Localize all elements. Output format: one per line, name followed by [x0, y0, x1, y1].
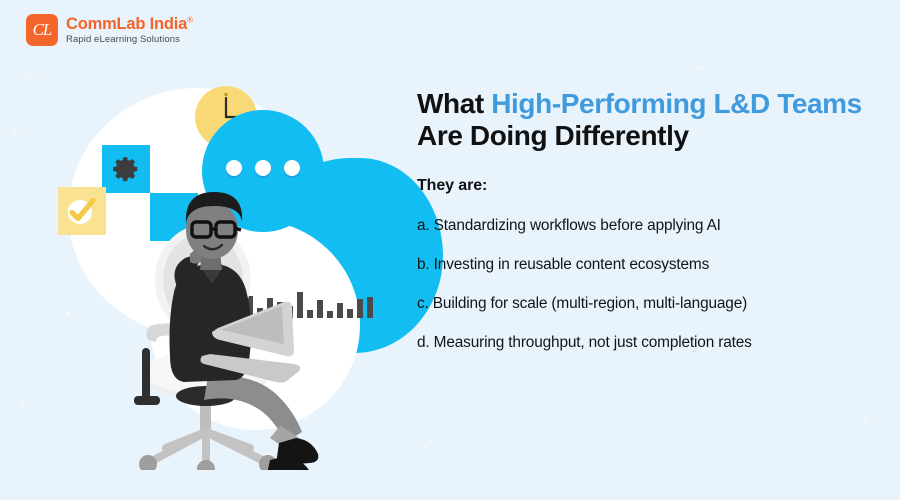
chart-bar [337, 303, 343, 318]
list-item: c. Building for scale (multi-region, mul… [417, 295, 877, 313]
brand-name: CommLab India® [66, 16, 193, 33]
content-column: What High-Performing L&D Teams Are Doing… [417, 88, 877, 373]
bubble-dot [226, 160, 242, 176]
headline-part2: Are Doing Differently [417, 120, 689, 151]
illustration [30, 70, 400, 470]
chart-bar [367, 297, 373, 318]
logo-text-block: CommLab India® Rapid eLearning Solutions [66, 16, 193, 45]
chart-bar [357, 299, 363, 318]
headline-part1: What [417, 88, 491, 119]
bubble-dot [255, 160, 271, 176]
person-photo [90, 180, 335, 470]
list-item: b. Investing in reusable content ecosyst… [417, 256, 877, 274]
slide-canvas: CL CommLab India® Rapid eLearning Soluti… [0, 0, 900, 500]
bubble-dot [284, 160, 300, 176]
brand-tagline: Rapid eLearning Solutions [66, 35, 193, 45]
logo-monogram-icon: CL [26, 14, 58, 46]
headline-accent: High-Performing L&D Teams [491, 88, 862, 119]
page-title: What High-Performing L&D Teams Are Doing… [417, 88, 877, 153]
speech-bubble-dots [202, 160, 324, 176]
brand-name-text: CommLab India [66, 15, 187, 33]
registered-mark-icon: ® [187, 15, 193, 24]
logo-monogram-text: CL [33, 21, 52, 40]
chart-bar [347, 309, 353, 318]
list-item: d. Measuring throughput, not just comple… [417, 334, 877, 352]
brand-logo[interactable]: CL CommLab India® Rapid eLearning Soluti… [26, 14, 193, 46]
lead-in-text: They are: [417, 177, 877, 195]
list-item: a. Standardizing workflows before applyi… [417, 217, 877, 235]
bullet-list: a. Standardizing workflows before applyi… [417, 217, 877, 352]
